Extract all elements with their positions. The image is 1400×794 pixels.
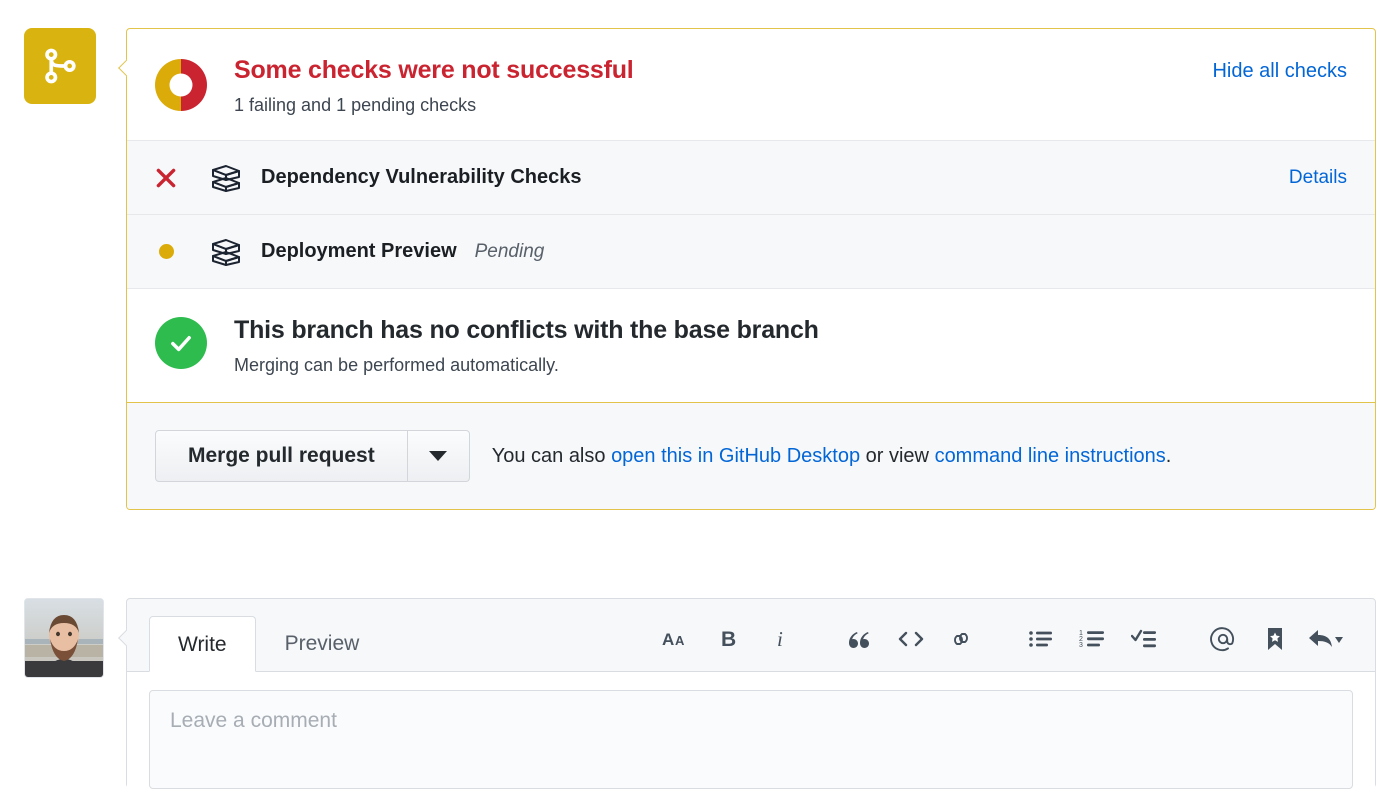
bold-icon[interactable]: B <box>703 619 755 659</box>
saved-reply-icon[interactable] <box>1249 619 1301 659</box>
tab-write[interactable]: Write <box>149 616 256 672</box>
merge-help-suffix: . <box>1166 445 1172 467</box>
heading-icon[interactable]: A A <box>651 619 703 659</box>
italic-icon[interactable]: i <box>755 619 807 659</box>
merge-button-group: Merge pull request <box>155 430 470 482</box>
conflict-subtitle: Merging can be performed automatically. <box>234 355 819 376</box>
check-name: Dependency Vulnerability Checks <box>261 166 581 189</box>
code-icon[interactable] <box>885 619 937 659</box>
markdown-toolbar: A A B i <box>651 619 1353 671</box>
bubble-arrow <box>118 629 127 647</box>
checks-status-title: Some checks were not successful <box>234 55 1212 85</box>
check-details-link[interactable]: Details <box>1289 167 1347 189</box>
mention-icon[interactable] <box>1197 619 1249 659</box>
merge-status-card: Some checks were not successful 1 failin… <box>126 28 1376 510</box>
git-merge-icon <box>24 28 96 104</box>
merge-action-row: Merge pull request You can also open thi… <box>127 402 1375 509</box>
comment-body <box>127 671 1375 789</box>
merge-badge-column <box>24 28 96 104</box>
netlify-layers-icon <box>205 158 247 198</box>
github-desktop-link[interactable]: open this in GitHub Desktop <box>611 445 860 467</box>
comment-toolbar-header: Write Preview A A B i <box>127 599 1375 671</box>
checks-summary-header: Some checks were not successful 1 failin… <box>127 29 1375 140</box>
check-circle-icon <box>155 317 207 369</box>
check-status-failing-icon <box>127 165 205 191</box>
check-row[interactable]: Deployment Preview Pending <box>127 214 1375 288</box>
unordered-list-icon[interactable] <box>1015 619 1067 659</box>
branch-conflict-status: This branch has no conflicts with the ba… <box>127 288 1375 402</box>
comment-card: Write Preview A A B i <box>126 598 1376 788</box>
svg-text:B: B <box>721 628 736 651</box>
link-icon[interactable] <box>937 619 989 659</box>
check-row[interactable]: Dependency Vulnerability Checks Details <box>127 140 1375 214</box>
merge-help-prefix: You can also <box>492 445 611 467</box>
checks-progress-donut <box>155 59 207 111</box>
chevron-down-icon <box>429 451 447 461</box>
quote-icon[interactable] <box>833 619 885 659</box>
merge-pull-request-button[interactable]: Merge pull request <box>155 430 408 482</box>
ordered-list-icon[interactable]: 1 2 3 <box>1067 619 1119 659</box>
task-list-icon[interactable] <box>1119 619 1171 659</box>
checks-status-subtitle: 1 failing and 1 pending checks <box>234 95 1212 116</box>
conflict-title: This branch has no conflicts with the ba… <box>234 315 819 345</box>
svg-text:3: 3 <box>1079 642 1083 649</box>
avatar <box>24 598 104 678</box>
comment-tabs: Write Preview <box>149 599 388 671</box>
svg-text:A: A <box>662 630 674 649</box>
svg-text:A: A <box>675 633 685 648</box>
tab-preview[interactable]: Preview <box>256 615 389 671</box>
merge-help-text: You can also open this in GitHub Desktop… <box>492 445 1172 468</box>
netlify-layers-icon <box>205 232 247 272</box>
hide-all-checks-link[interactable]: Hide all checks <box>1212 55 1347 83</box>
svg-text:i: i <box>777 627 783 651</box>
merge-help-middle: or view <box>860 445 934 467</box>
check-name: Deployment Preview <box>261 240 457 263</box>
check-status-pending-icon <box>127 244 205 259</box>
merge-method-dropdown-button[interactable] <box>408 430 470 482</box>
reply-icon[interactable] <box>1301 619 1353 659</box>
command-line-instructions-link[interactable]: command line instructions <box>935 445 1166 467</box>
bubble-arrow <box>118 59 127 77</box>
check-state-label: Pending <box>475 241 545 263</box>
comment-input[interactable] <box>149 690 1353 789</box>
